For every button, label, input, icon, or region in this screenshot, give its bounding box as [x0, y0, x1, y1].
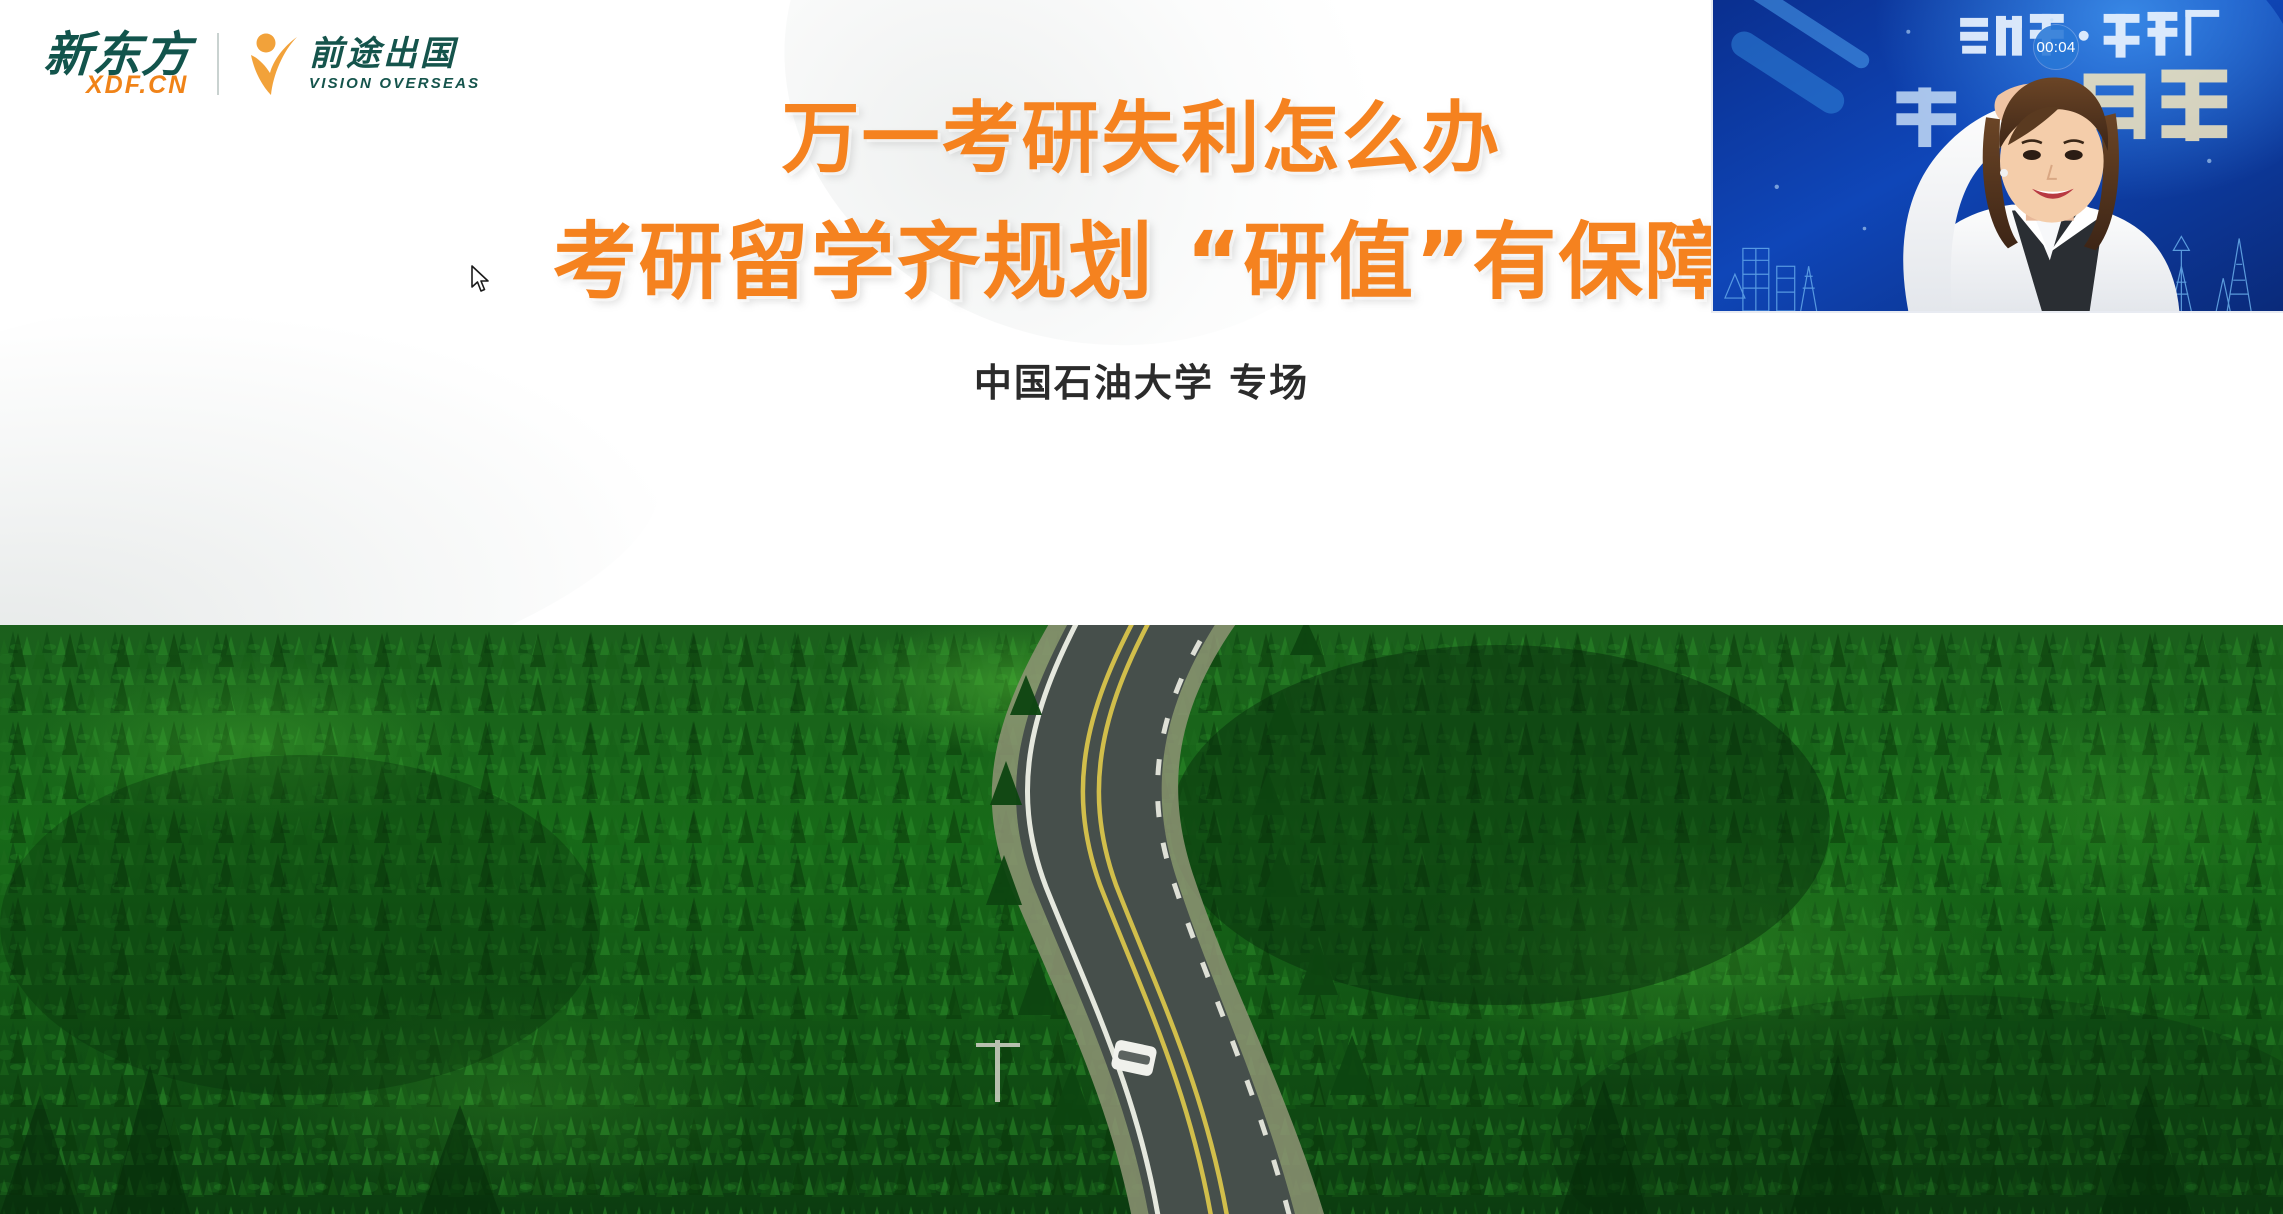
vision-logo-en: VISION OVERSEAS [309, 76, 480, 91]
logo-divider [217, 33, 219, 95]
vision-overseas-text: 前途出国 VISION OVERSEAS [309, 37, 480, 91]
presentation-stage: 新东方 XDF.CN 前途出国 VISION OVERSEAS 万一考研失利怎么… [0, 0, 2283, 1214]
slide-subtitle: 中国石油大学 专场 [0, 352, 2283, 407]
vision-person-icon [245, 31, 301, 97]
brand-logo-bar: 新东方 XDF.CN 前途出国 VISION OVERSEAS [44, 18, 480, 110]
xdf-logo-cn: 新东方 [42, 31, 192, 79]
xdf-logo: 新东方 XDF.CN [44, 31, 191, 98]
forest-road-photo [0, 625, 2283, 1214]
vision-logo-cn: 前途出国 [309, 37, 480, 71]
recording-timer-badge: 00:04 [2034, 25, 2078, 69]
presenter-webcam-panel[interactable]: 00:04 [1711, 0, 2283, 313]
vision-overseas-logo: 前途出国 VISION OVERSEAS [245, 31, 480, 97]
